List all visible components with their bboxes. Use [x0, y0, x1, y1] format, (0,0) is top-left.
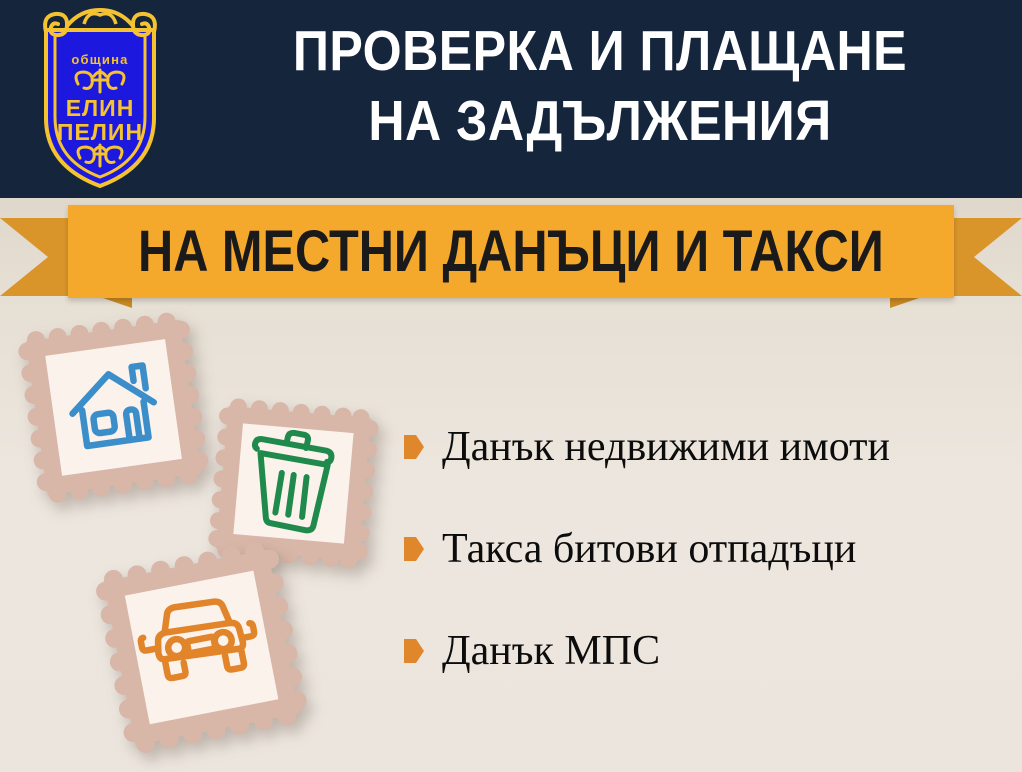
stamp-card-house	[6, 300, 221, 515]
crest-label-line2: ПЕЛИН	[57, 119, 143, 145]
poster-header: община ЕЛИН ПЕЛИН	[0, 0, 1022, 198]
list-item: Данък МПС	[404, 628, 1014, 674]
tax-type-list: Данък недвижими имоти Такса битови отпад…	[404, 424, 1014, 674]
coat-of-arms: община ЕЛИН ПЕЛИН	[22, 6, 178, 192]
list-item: Данък недвижими имоти	[404, 424, 1014, 470]
ribbon-label: НА МЕСТНИ ДАНЪЦИ И ТАКСИ	[138, 222, 884, 282]
list-item-label: Данък МПС	[442, 628, 660, 674]
stamp-card-group	[0, 290, 420, 772]
bullet-arrow-icon	[404, 639, 424, 663]
subtitle-ribbon: НА МЕСТНИ ДАНЪЦИ И ТАКСИ	[0, 198, 1022, 308]
crest-label-top: община	[71, 52, 128, 67]
stamp-card-car	[84, 530, 319, 765]
page-title-line-2: НА ЗАДЪЛЖЕНИЯ	[239, 86, 961, 156]
ribbon-band: НА МЕСТНИ ДАНЪЦИ И ТАКСИ	[68, 205, 954, 298]
bullet-arrow-icon	[404, 537, 424, 561]
list-item-label: Данък недвижими имоти	[442, 424, 890, 470]
poster-canvas: община ЕЛИН ПЕЛИН	[0, 0, 1022, 772]
page-title: ПРОВЕРКА И ПЛАЩАНЕ НА ЗАДЪЛЖЕНИЯ	[239, 16, 961, 156]
page-title-line-1: ПРОВЕРКА И ПЛАЩАНЕ	[239, 16, 961, 86]
crest-label-line1: ЕЛИН	[66, 95, 135, 121]
bullet-arrow-icon	[404, 435, 424, 459]
list-item-label: Такса битови отпадъци	[442, 526, 856, 572]
list-item: Такса битови отпадъци	[404, 526, 1014, 572]
